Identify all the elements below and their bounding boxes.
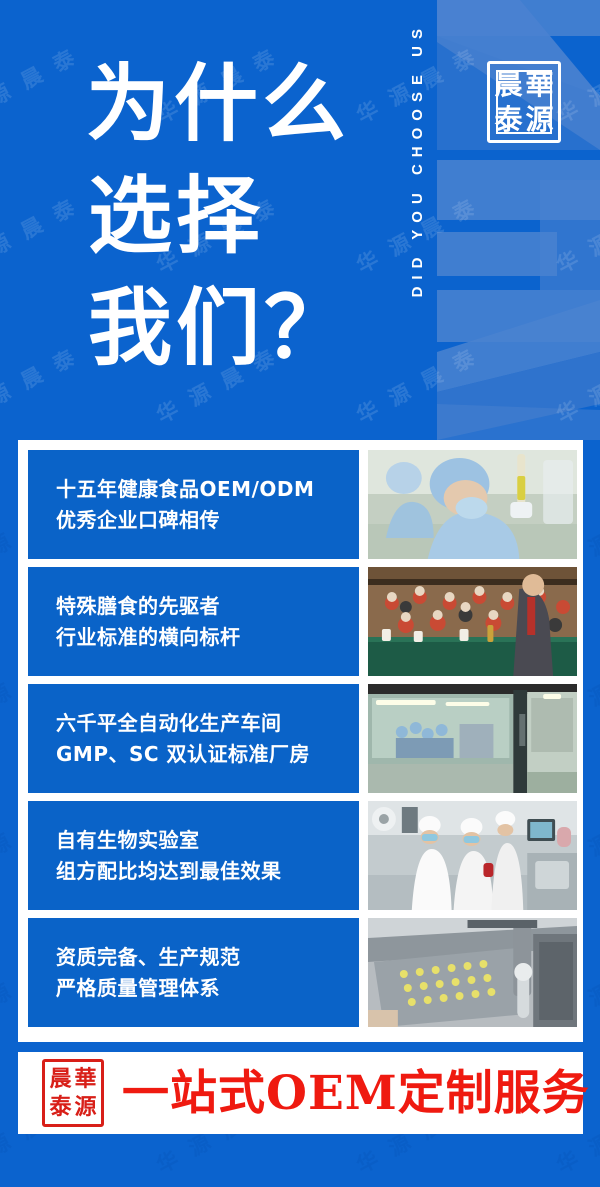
seal-char-2: 華 — [524, 67, 555, 102]
seal-char-3: 泰 — [493, 102, 524, 137]
features-panel: 十五年健康食品OEM/ODM 优秀企业口碑相传 — [18, 440, 583, 1042]
seal-char-4: 源 — [524, 102, 555, 137]
poster-header: 为什么 选择 我们？ DID YOU CHOOSE US 晨 華 泰 源 — [0, 0, 600, 440]
feature-line: 优秀企业口碑相传 — [56, 505, 359, 536]
brand-seal-header: 晨 華 泰 源 — [487, 61, 561, 143]
feature-line: 十五年健康食品OEM/ODM — [56, 474, 359, 505]
seal-char-1: 晨 — [493, 67, 524, 102]
feature-image-tablet-packing-machine — [368, 918, 577, 1027]
feature-row: 自有生物实验室 组方配比均达到最佳效果 — [28, 801, 577, 910]
feature-line: 自有生物实验室 — [56, 825, 359, 856]
footer-band: 晨 華 泰 源 一站式OEM定制服务 — [18, 1052, 583, 1134]
feature-row: 资质完备、生产规范 严格质量管理体系 — [28, 918, 577, 1027]
feature-text-block: 十五年健康食品OEM/ODM 优秀企业口碑相传 — [28, 450, 359, 559]
headline-line-2: 选择 — [88, 160, 386, 272]
feature-row: 六千平全自动化生产车间 GMP、SC 双认证标准厂房 — [28, 684, 577, 793]
feature-text-block: 六千平全自动化生产车间 GMP、SC 双认证标准厂房 — [28, 684, 359, 793]
feature-line: 行业标准的横向标杆 — [56, 622, 359, 653]
footer-seal-char-3: 泰 — [48, 1093, 73, 1121]
headline-line-1: 为什么 — [86, 48, 386, 160]
brand-seal-footer: 晨 華 泰 源 — [42, 1059, 104, 1127]
feature-line: 资质完备、生产规范 — [56, 942, 359, 973]
feature-line: 严格质量管理体系 — [56, 973, 359, 1004]
footer-seal-char-1: 晨 — [48, 1065, 73, 1093]
feature-row: 十五年健康食品OEM/ODM 优秀企业口碑相传 — [28, 450, 577, 559]
feature-text-block: 特殊膳食的先驱者 行业标准的横向标杆 — [28, 567, 359, 676]
headline-block: 为什么 选择 我们？ — [86, 48, 386, 384]
feature-line: 组方配比均达到最佳效果 — [56, 856, 359, 887]
vertical-tagline: DID YOU CHOOSE US — [404, 22, 430, 422]
feature-row: 特殊膳食的先驱者 行业标准的横向标杆 — [28, 567, 577, 676]
poster-root: 华 源 晨 泰华 源 晨 泰华 源 晨 泰华 源 晨 泰华 源 晨 泰华 源 晨… — [0, 0, 600, 1187]
features-list: 十五年健康食品OEM/ODM 优秀企业口碑相传 — [28, 450, 577, 1027]
feature-image-lab-production-line — [368, 801, 577, 910]
headline-line-3: 我们？ — [88, 272, 386, 384]
feature-text-block: 自有生物实验室 组方配比均达到最佳效果 — [28, 801, 359, 910]
feature-line: GMP、SC 双认证标准厂房 — [56, 739, 359, 770]
vertical-tagline-text: DID YOU CHOOSE US — [409, 22, 426, 297]
feature-image-lab-technician — [368, 450, 577, 559]
feature-image-clean-room — [368, 684, 577, 793]
feature-image-conference-hall — [368, 567, 577, 676]
feature-text-block: 资质完备、生产规范 严格质量管理体系 — [28, 918, 359, 1027]
feature-line: 特殊膳食的先驱者 — [56, 591, 359, 622]
footer-seal-char-2: 華 — [73, 1065, 98, 1093]
footer-headline: 一站式OEM定制服务 — [122, 1070, 590, 1117]
feature-line: 六千平全自动化生产车间 — [56, 708, 359, 739]
footer-seal-char-4: 源 — [73, 1093, 98, 1121]
